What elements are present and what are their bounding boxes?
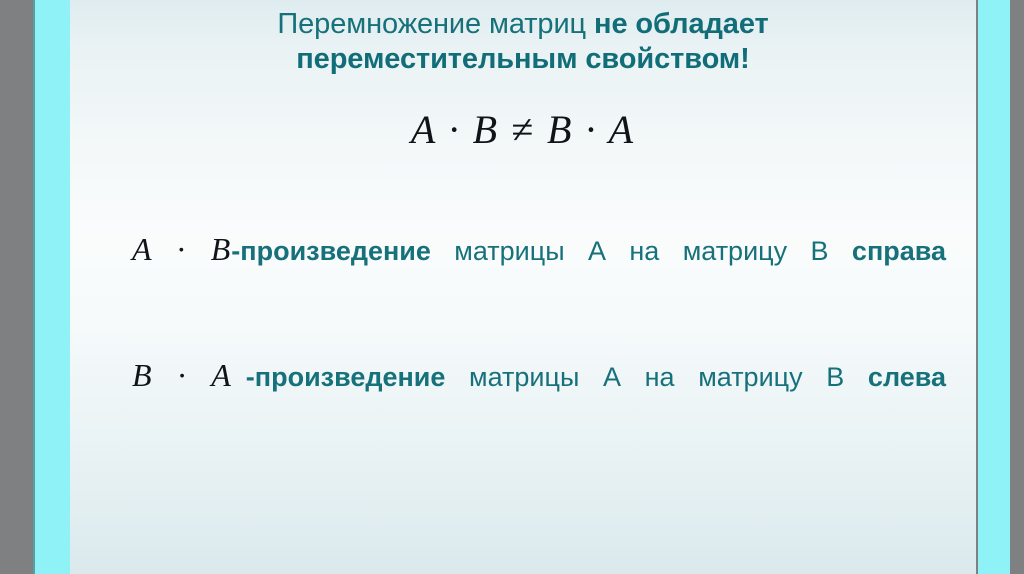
title-text-bold: не обладает: [594, 8, 769, 40]
statement-direction-2: слева: [868, 362, 946, 392]
main-formula: A · B ≠ B · A: [70, 106, 976, 153]
statement-right-multiplication: A · B-произведение матрицы А на матрицу …: [98, 226, 946, 312]
statement-operand-1: В: [811, 236, 852, 266]
statement-label-product-2: -произведение: [246, 362, 446, 392]
presentation-slide: Перемножение матриц не обладает перемест…: [0, 0, 1024, 574]
statement-formula-ba: B · A: [98, 357, 246, 393]
frame-bar-cyan-left: [33, 0, 70, 574]
frame-bar-gray-right: [1010, 0, 1024, 574]
statement-left-multiplication: B · A-произведение матрицы А на матрицу …: [98, 352, 946, 438]
frame-bar-cyan-right: [978, 0, 1012, 574]
title-text-regular: Перемножение матриц: [277, 8, 594, 40]
statement-direction-1: справа: [852, 236, 946, 266]
slide-canvas: Перемножение матриц не обладает перемест…: [70, 0, 976, 574]
statement-middle-text-2: матрицы А на матрицу: [445, 362, 826, 392]
title-line-two: переместительным свойством!: [70, 43, 976, 77]
slide-title: Перемножение матриц не обладает перемест…: [70, 8, 976, 77]
frame-bar-gray-left: [0, 0, 33, 574]
statement-middle-text-1: матрицы А на матрицу: [431, 236, 811, 266]
statement-label-product-1: -произведение: [231, 236, 431, 266]
statement-operand-2: В: [826, 362, 868, 392]
statement-formula-ab: A · B: [98, 231, 231, 267]
